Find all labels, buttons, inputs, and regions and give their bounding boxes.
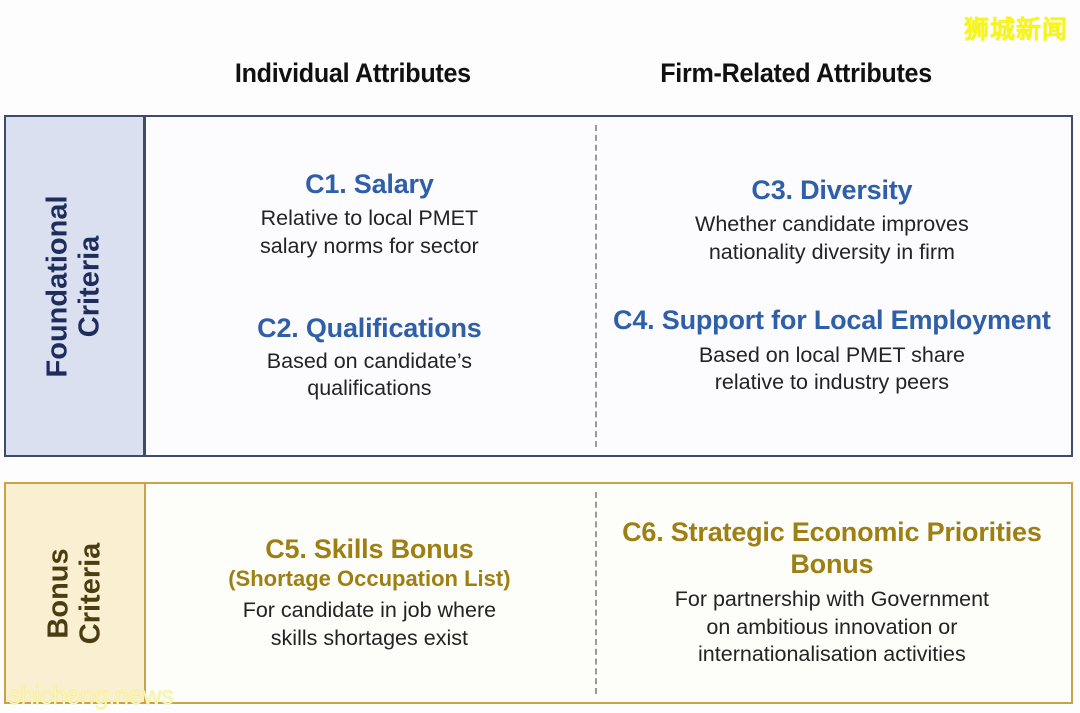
criterion-c3-description-line-2: nationality diversity in firm: [603, 239, 1061, 267]
criterion-c2-description-line-2: qualifications: [156, 375, 583, 403]
criterion-c5-description-line-2: skills shortages exist: [156, 625, 583, 653]
criterion-c4-description-line-2: relative to industry peers: [603, 369, 1061, 397]
criterion-c6-title-line-1: C6. Strategic Economic: [622, 517, 919, 547]
criterion-c4-description-line-1: Based on local PMET share: [603, 342, 1061, 370]
criterion-c1-title: C1. Salary: [156, 169, 583, 200]
criterion-c1-description-line-1: Relative to local PMET: [156, 205, 583, 233]
criterion-c2-title: C2. Qualifications: [156, 313, 583, 344]
column-header-firm-related-attributes: Firm-Related Attributes: [660, 58, 932, 89]
bonus-label-line-1: Bonus: [43, 548, 75, 638]
criterion-c1-description: Relative to local PMET salary norms for …: [156, 205, 583, 260]
bonus-firm-column: C6. Strategic Economic Priorities Bonus …: [593, 484, 1071, 702]
foundational-firm-column: C3. Diversity Whether candidate improves…: [593, 117, 1071, 455]
watermark-chinese: 狮城新闻: [964, 10, 1068, 46]
foundational-individual-column: C1. Salary Relative to local PMET salary…: [146, 117, 593, 455]
criterion-c3-diversity: C3. Diversity Whether candidate improves…: [603, 175, 1061, 266]
criterion-c1-salary: C1. Salary Relative to local PMET salary…: [156, 169, 583, 260]
criterion-c4-support-for-local-employment: C4. Support for Local Employment Based o…: [603, 305, 1061, 397]
foundational-criteria-content: C1. Salary Relative to local PMET salary…: [146, 117, 1071, 455]
bonus-individual-column: C5. Skills Bonus (Shortage Occupation Li…: [146, 484, 593, 702]
criterion-c2-qualifications: C2. Qualifications Based on candidate’s …: [156, 313, 583, 403]
criterion-c2-description-line-1: Based on candidate’s: [156, 348, 583, 376]
criterion-c3-description: Whether candidate improves nationality d…: [603, 211, 1061, 266]
criterion-c6-description: For partnership with Government on ambit…: [603, 586, 1061, 669]
criterion-c5-subtitle: (Shortage Occupation List): [156, 566, 583, 591]
criterion-c6-description-line-2: on ambitious innovation or: [603, 614, 1061, 642]
criterion-c6-description-line-3: internationalisation activities: [603, 641, 1061, 669]
criterion-c4-description: Based on local PMET share relative to in…: [603, 342, 1061, 397]
criterion-c5-skills-bonus: C5. Skills Bonus (Shortage Occupation Li…: [156, 534, 583, 653]
criterion-c5-title: C5. Skills Bonus: [156, 534, 583, 565]
criterion-c4-title-line-1: C4. Support for Local: [613, 305, 883, 335]
bonus-criteria-content: C5. Skills Bonus (Shortage Occupation Li…: [146, 484, 1071, 702]
criterion-c5-description-line-1: For candidate in job where: [156, 597, 583, 625]
criterion-c1-description-line-2: salary norms for sector: [156, 233, 583, 261]
watermark-site: shicheng.news: [8, 680, 174, 711]
bonus-criteria-side-label-text: Bonus Criteria: [43, 542, 108, 644]
criterion-c2-description: Based on candidate’s qualifications: [156, 348, 583, 403]
foundational-label-line-2: Criteria: [75, 195, 107, 377]
bonus-label-line-2: Criteria: [75, 542, 107, 644]
column-header-individual-attributes: Individual Attributes: [235, 58, 471, 89]
criterion-c6-strategic-economic-priorities-bonus: C6. Strategic Economic Priorities Bonus …: [603, 517, 1061, 668]
bonus-criteria-band: Bonus Criteria C5. Skills Bonus (Shortag…: [4, 482, 1073, 704]
criterion-c6-description-line-1: For partnership with Government: [603, 586, 1061, 614]
bonus-criteria-side-label: Bonus Criteria: [6, 484, 146, 702]
criterion-c4-title-line-2: Employment: [891, 305, 1051, 335]
criterion-c3-description-line-1: Whether candidate improves: [603, 211, 1061, 239]
foundational-criteria-band: Foundational Criteria C1. Salary Relativ…: [4, 115, 1073, 457]
column-headers: Individual Attributes Firm-Related Attri…: [0, 58, 1080, 104]
foundational-label-line-1: Foundational: [42, 195, 74, 377]
foundational-criteria-side-label: Foundational Criteria: [6, 117, 146, 455]
criterion-c5-description: For candidate in job where skills shorta…: [156, 597, 583, 652]
foundational-criteria-side-label-text: Foundational Criteria: [42, 195, 107, 377]
criterion-c6-title: C6. Strategic Economic Priorities Bonus: [603, 517, 1061, 580]
criterion-c4-title: C4. Support for Local Employment: [603, 305, 1061, 336]
criterion-c3-title: C3. Diversity: [603, 175, 1061, 206]
